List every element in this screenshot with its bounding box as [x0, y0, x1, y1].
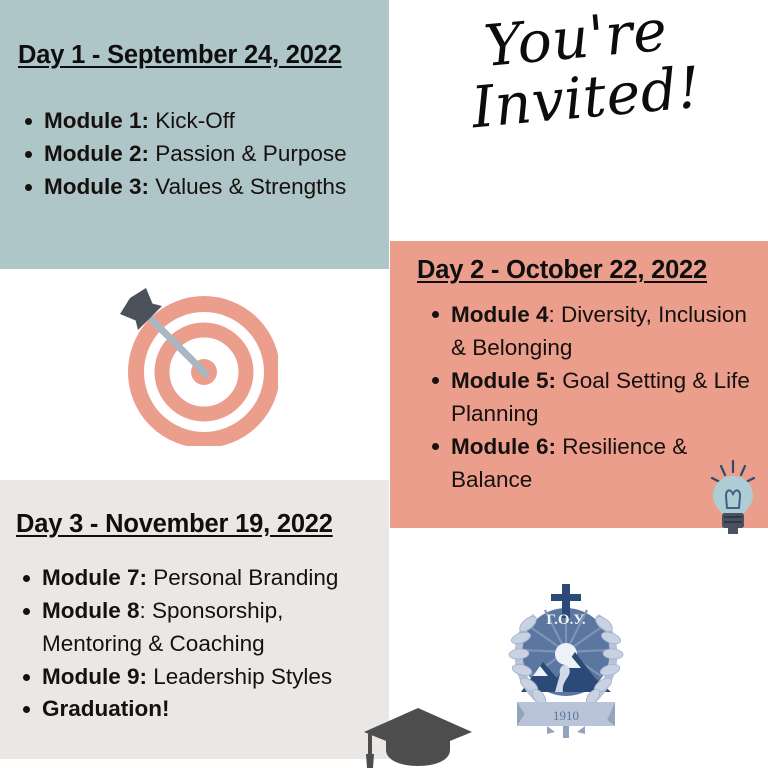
list-item: Module 7: Personal Branding [16, 562, 386, 595]
target-arrow-icon [118, 286, 278, 446]
module-label: Graduation! [42, 696, 170, 721]
module-label: Module 4 [451, 302, 549, 327]
day1-heading: Day 1 - September 24, 2022 [18, 41, 342, 70]
list-item: Module 1: Kick-Off [18, 105, 383, 138]
module-label: Module 3: [44, 174, 149, 199]
list-item: Module 5: Goal Setting & Life Planning [425, 364, 755, 430]
module-label: Module 6: [451, 434, 556, 459]
module-title: Passion & Purpose [149, 141, 347, 166]
invited-headline: You're Invited! [462, 0, 761, 137]
crest-year: 1910 [553, 708, 579, 723]
day1-module-list: Module 1: Kick-Off Module 2: Passion & P… [18, 105, 383, 204]
crest-initials: Г.О.У. [546, 612, 586, 628]
module-label: Module 1: [44, 108, 149, 133]
graduation-cap-icon [344, 692, 472, 768]
module-title: Values & Strengths [149, 174, 346, 199]
university-crest-icon: Г.О.У. 1910 [503, 580, 629, 740]
day3-module-list: Module 7: Personal Branding Module 8: Sp… [16, 562, 386, 726]
list-item: Module 9: Leadership Styles [16, 661, 386, 694]
module-label: Module 2: [44, 141, 149, 166]
day3-heading: Day 3 - November 19, 2022 [16, 510, 333, 539]
list-item: Graduation! [16, 693, 386, 726]
list-item: Module 3: Values & Strengths [18, 171, 383, 204]
module-label: Module 7: [42, 565, 147, 590]
module-label: Module 8 [42, 598, 140, 623]
list-item: Module 2: Passion & Purpose [18, 138, 383, 171]
lightbulb-icon [706, 452, 762, 536]
module-title: Kick-Off [149, 108, 235, 133]
list-item: Module 8: Sponsorship, Mentoring & Coach… [16, 595, 386, 661]
module-title: Personal Branding [147, 565, 338, 590]
module-label: Module 9: [42, 664, 147, 689]
invitation-canvas: You're Invited! Day 1 - September 24, 20… [0, 0, 768, 768]
module-title: Leadership Styles [147, 664, 332, 689]
module-label: Module 5: [451, 368, 556, 393]
day2-heading: Day 2 - October 22, 2022 [417, 256, 707, 285]
list-item: Module 4: Diversity, Inclusion & Belongi… [425, 298, 755, 364]
